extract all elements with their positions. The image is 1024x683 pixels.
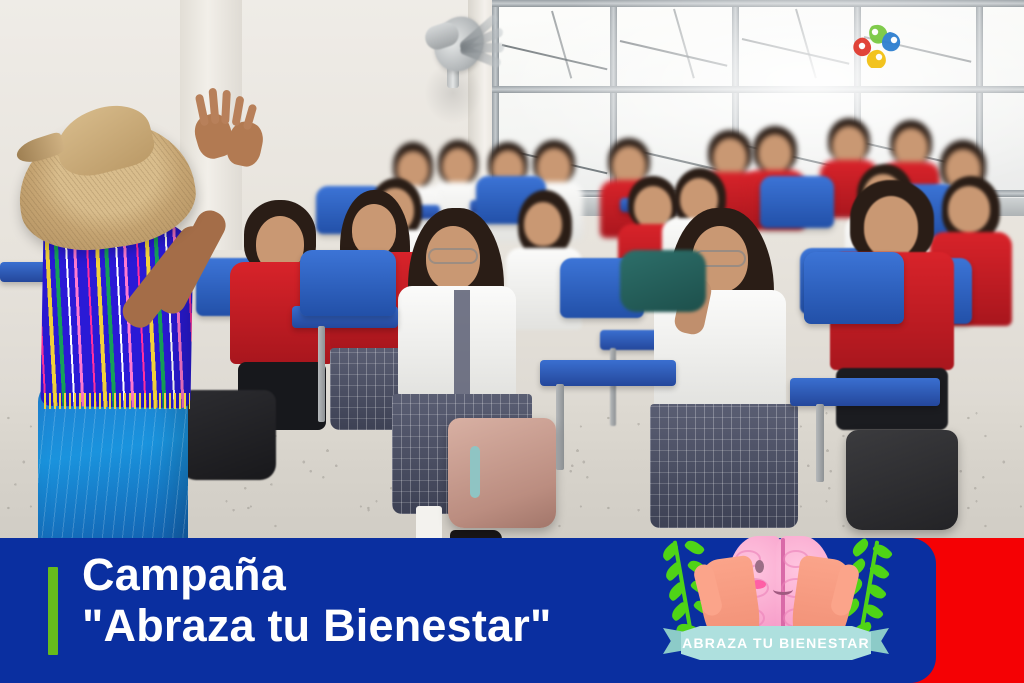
poncho-fringe xyxy=(44,393,190,409)
chair-back xyxy=(300,250,396,316)
campaign-banner: Campaña "Abraza tu Bienestar" xyxy=(0,538,1024,683)
presenter xyxy=(0,60,300,560)
banner-title-line-1: Campaña xyxy=(82,552,662,597)
banner-title-line-2: "Abraza tu Bienestar" xyxy=(82,603,662,648)
backpack-strap xyxy=(470,446,480,498)
brain-eye-left xyxy=(755,560,764,573)
backpack xyxy=(448,418,556,528)
backpack xyxy=(846,430,958,530)
classroom-photo xyxy=(0,0,1024,560)
brain-smile xyxy=(773,584,793,595)
desk xyxy=(540,360,676,386)
ribbon-label: ABRAZA TU BIENESTAR xyxy=(681,626,871,660)
backpack xyxy=(620,250,706,312)
chair-back xyxy=(804,252,904,324)
institution-logo xyxy=(850,22,910,68)
desk xyxy=(790,378,940,406)
banner-title-block: Campaña "Abraza tu Bienestar" xyxy=(82,552,662,648)
screenshot-root: Campaña "Abraza tu Bienestar" xyxy=(0,0,1024,683)
banner-accent-bar xyxy=(48,567,58,655)
campaign-emblem: ABRAZA TU BIENESTAR xyxy=(655,516,895,683)
